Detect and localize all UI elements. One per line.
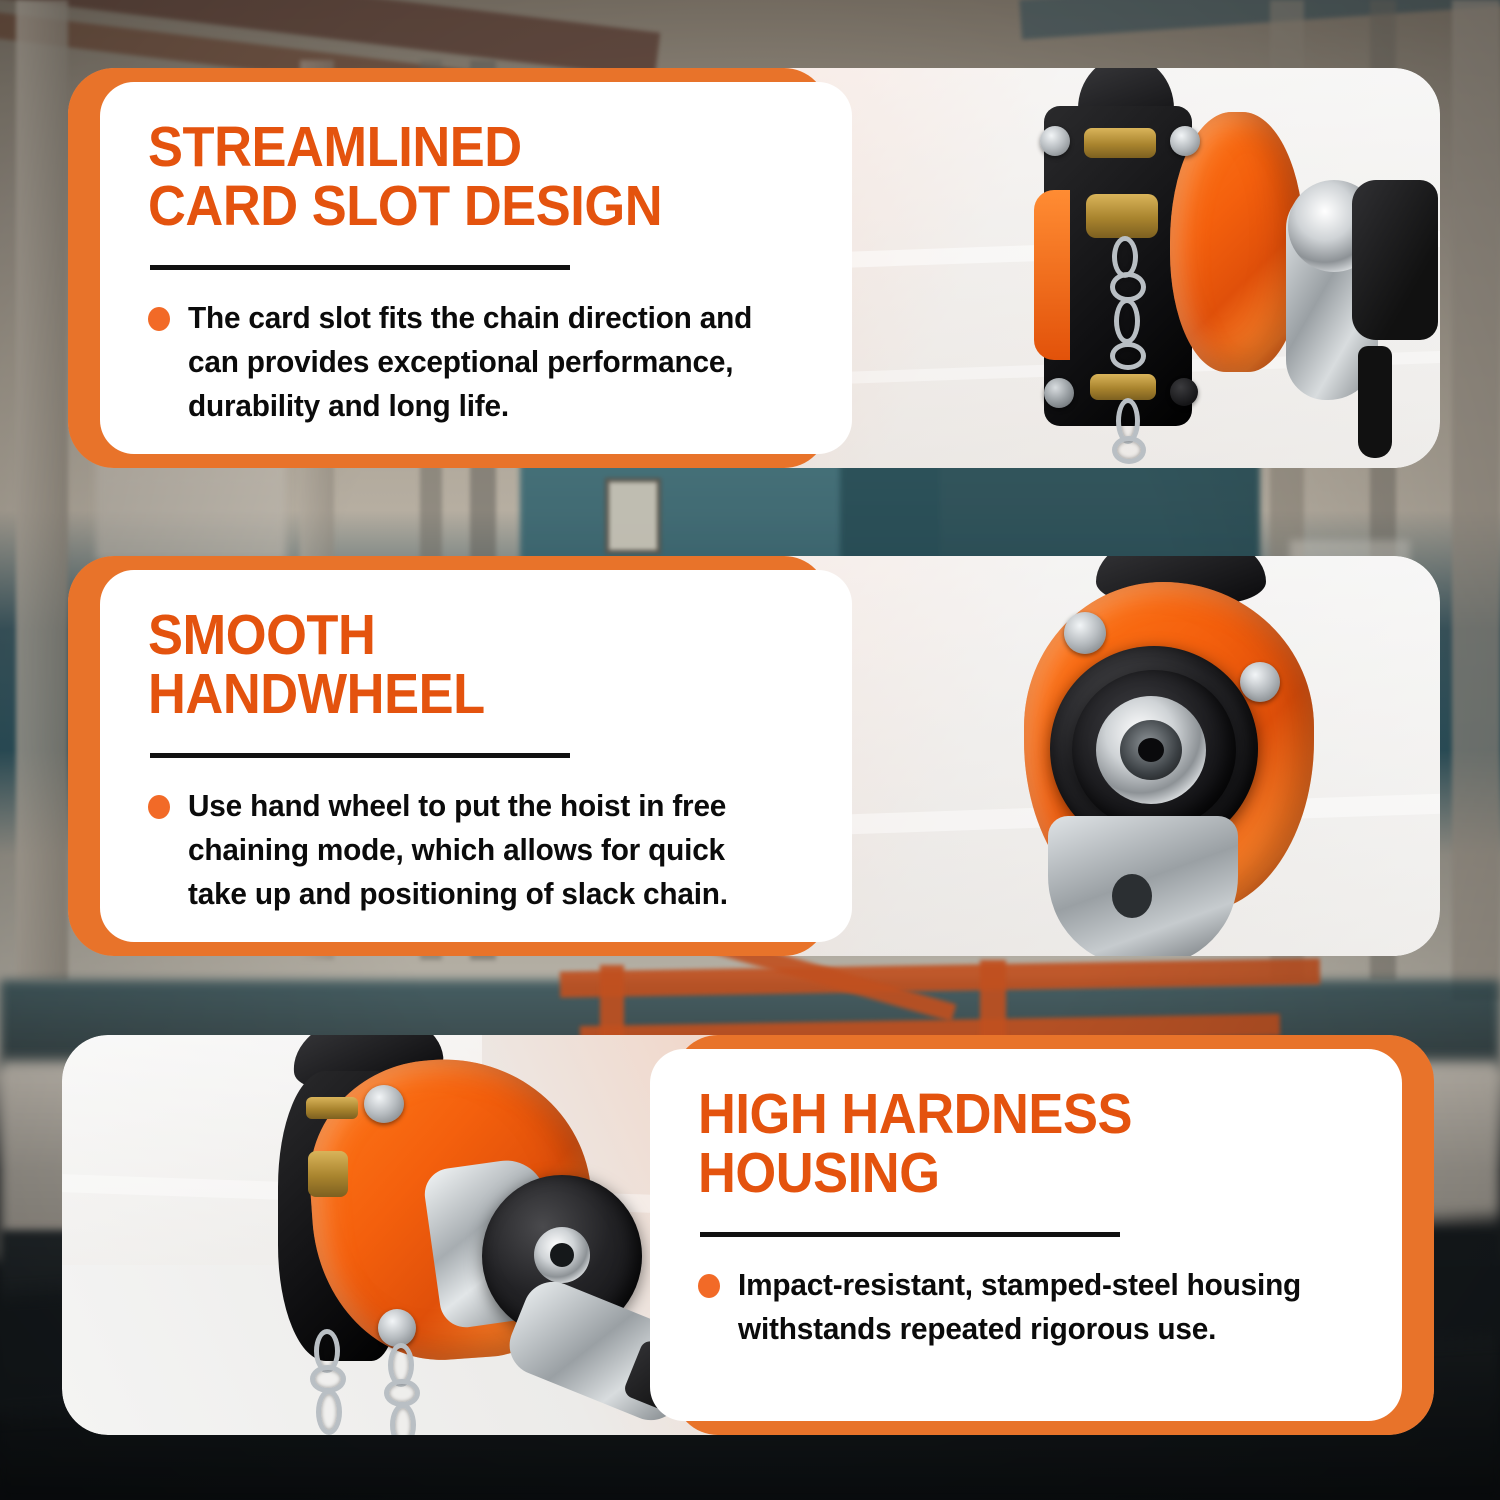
handwheel-center-hole-3 <box>550 1243 574 1267</box>
housing-bolt-a-2 <box>1064 612 1106 654</box>
brass-gear-3 <box>308 1151 348 1197</box>
steel-housing-hole-2 <box>1112 874 1152 918</box>
feature-2-bullet-text: Use hand wheel to put the hoist in free … <box>188 784 787 916</box>
chain-link-1f <box>1112 436 1146 464</box>
chain-link-1d <box>1110 342 1146 370</box>
handwheel-center-hole-2 <box>1138 738 1164 762</box>
housing-bolt-bl-1 <box>1044 378 1074 408</box>
feature-3-product-image <box>182 1035 702 1435</box>
feature-1-card: STREAMLINED CARD SLOT DESIGN The card sl… <box>100 82 852 454</box>
feature-1-title: STREAMLINED CARD SLOT DESIGN <box>148 118 759 235</box>
feature-2-bullet-row: Use hand wheel to put the hoist in free … <box>148 784 812 916</box>
housing-bolt-br-1 <box>1170 378 1198 406</box>
feature-2-card: SMOOTH HANDWHEEL Use hand wheel to put t… <box>100 570 852 942</box>
feature-2-title: SMOOTH HANDWHEEL <box>148 606 759 723</box>
feature-3-bullet-text: Impact-resistant, stamped-steel housing … <box>738 1263 1337 1351</box>
feature-panel-3: HIGH HARDNESS HOUSING Impact-resistant, … <box>62 1035 1434 1435</box>
feature-3-title: HIGH HARDNESS HOUSING <box>698 1085 1309 1202</box>
brass-pin-3 <box>306 1097 358 1119</box>
feature-1-bullet-row: The card slot fits the chain direction a… <box>148 296 812 428</box>
feature-1-product-image <box>948 68 1440 468</box>
housing-bolt-tl-1 <box>1040 126 1070 156</box>
feature-panel-2: SMOOTH HANDWHEEL Use hand wheel to put t… <box>68 556 1440 956</box>
chain-link-1c <box>1114 298 1140 344</box>
housing-bolt-bottom-3 <box>378 1309 416 1347</box>
feature-2-divider <box>150 753 570 758</box>
brass-roller-bottom-1 <box>1090 374 1156 400</box>
bullet-dot-icon <box>698 1274 720 1298</box>
orange-edge-1 <box>1034 190 1070 360</box>
brass-roller-mid-1 <box>1086 194 1158 238</box>
housing-bolt-b-2 <box>1240 662 1280 702</box>
feature-2-product-image <box>968 556 1438 956</box>
chain-link-3c <box>316 1389 342 1435</box>
lever-switch-1 <box>1358 346 1392 458</box>
bullet-dot-icon <box>148 307 170 331</box>
feature-3-card: HIGH HARDNESS HOUSING Impact-resistant, … <box>650 1049 1402 1421</box>
lever-grip-1 <box>1352 180 1438 340</box>
feature-panel-1: STREAMLINED CARD SLOT DESIGN The card sl… <box>68 68 1440 468</box>
housing-bolt-tr-1 <box>1170 126 1200 156</box>
bullet-dot-icon <box>148 795 170 819</box>
feature-1-divider <box>150 265 570 270</box>
chain-link-3f <box>390 1403 416 1435</box>
feature-3-bullet-row: Impact-resistant, stamped-steel housing … <box>698 1263 1362 1351</box>
feature-1-bullet-text: The card slot fits the chain direction a… <box>188 296 787 428</box>
feature-3-divider <box>700 1232 1120 1237</box>
brass-roller-top-1 <box>1084 128 1156 158</box>
housing-bolt-top-3 <box>364 1085 404 1123</box>
